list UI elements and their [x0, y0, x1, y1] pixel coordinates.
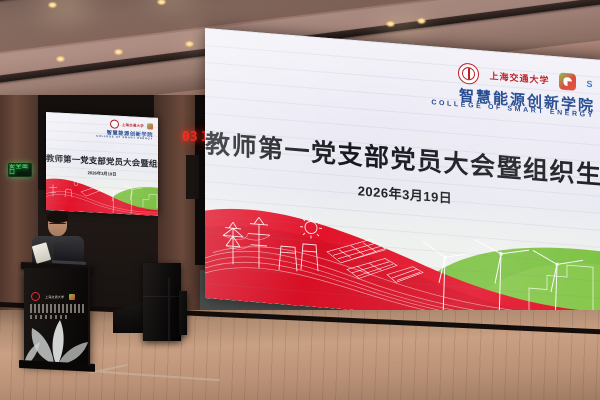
sjtu-seal-icon	[458, 62, 479, 85]
lectern-logo-row: 上海交通大学	[31, 292, 75, 301]
side-energy-graphic-band	[46, 172, 158, 216]
partner-logo-icon	[559, 73, 576, 91]
lectern-text-band	[30, 304, 84, 313]
side-energy-illustration	[46, 172, 158, 216]
floor-cable	[168, 277, 170, 341]
exit-sign-label: 安全出口	[9, 164, 31, 176]
lectern-leaf-graphic	[24, 316, 90, 364]
ceiling-spotlight	[114, 49, 123, 55]
ceiling-spotlight	[386, 21, 395, 27]
ceiling-spotlight	[417, 18, 426, 24]
stage-floor	[0, 310, 600, 400]
lectern-body: 上海交通大学	[24, 268, 90, 364]
ceiling-spotlight	[56, 56, 65, 62]
side-led-screen: 上海交通大学 智慧能源创新学院 COLLEGE OF SMART ENERGY …	[46, 112, 158, 216]
photo-scene: 安全出口 03 19 上海交通大学 S 智慧能源创新学院 COLLEGE OF …	[0, 0, 600, 400]
lectern-org-label: 上海交通大学	[45, 295, 64, 299]
partner-logo-icon	[69, 294, 75, 300]
sjtu-seal-icon	[31, 292, 40, 301]
sjtu-seal-icon	[110, 119, 119, 128]
pa-speaker-cabinet	[143, 263, 181, 341]
ceiling-spotlight	[48, 2, 57, 8]
partner-logo-label: S	[586, 78, 593, 89]
pa-speaker-cabinet-small	[179, 291, 187, 335]
sjtu-name-label: 上海交通大学	[122, 122, 144, 128]
main-led-wall: 上海交通大学 S 智慧能源创新学院 COLLEGE OF SMART ENERG…	[205, 28, 600, 330]
microphone-stand	[88, 266, 90, 366]
partner-logo-icon	[147, 123, 153, 129]
presenter-hair	[47, 211, 68, 223]
presenter-glasses-icon	[49, 223, 66, 227]
sjtu-name-label: 上海交通大学	[489, 69, 549, 87]
exit-sign: 安全出口	[8, 163, 32, 177]
ceiling-spotlight	[185, 41, 194, 47]
clock-digit-hours: 03	[182, 131, 198, 144]
side-slide-title: 教师第一党支部党员大会暨组织生活会	[46, 152, 158, 170]
